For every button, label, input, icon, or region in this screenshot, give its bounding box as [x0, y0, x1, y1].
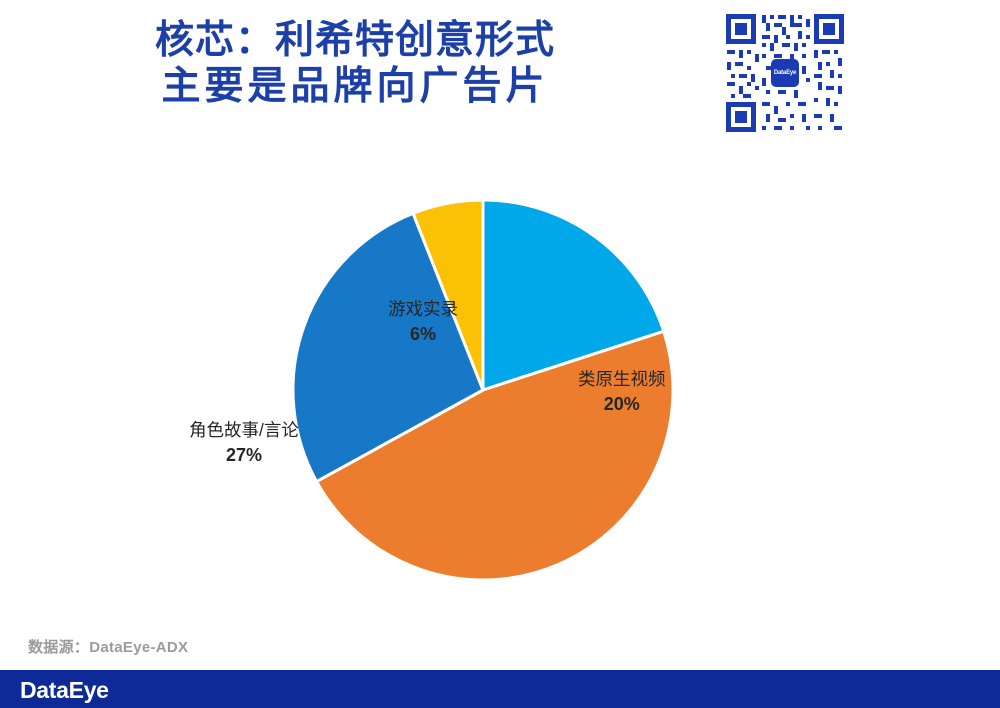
dataeye-logo: DataEye: [20, 677, 109, 704]
pie-label-role-story-name: 角色故事/言论: [185, 419, 303, 443]
page-title-line-2: 主要是品牌向广告片: [0, 64, 710, 110]
qr-code[interactable]: DataEye: [722, 10, 848, 136]
pie-label-native-video-name: 类原生视频: [578, 368, 666, 392]
page-title: 核芯：利希特创意形式 主要是品牌向广告片: [0, 18, 710, 110]
pie-label-gameplay-record-value: 6%: [388, 322, 458, 346]
qr-center-logo: DataEye: [771, 59, 799, 87]
pie-chart-svg: [0, 140, 1000, 620]
pie-chart: 类原生视频 20% 品牌向广告片 47% 角色故事/言论 27% 游戏实录 6%: [0, 140, 1000, 620]
pie-label-gameplay-record: 游戏实录 6%: [388, 298, 458, 346]
pie-label-gameplay-record-name: 游戏实录: [388, 298, 458, 322]
data-source-note: 数据源：DataEye-ADX: [28, 636, 188, 657]
footer-bar: DataEye: [0, 670, 1000, 708]
slide-canvas: 核芯：利希特创意形式 主要是品牌向广告片: [0, 0, 1000, 708]
pie-label-native-video-value: 20%: [578, 392, 666, 416]
pie-label-role-story: 角色故事/言论 27%: [185, 419, 303, 467]
pie-label-native-video: 类原生视频 20%: [578, 368, 666, 416]
page-title-line-1: 核芯：利希特创意形式: [0, 18, 710, 64]
pie-label-role-story-value: 27%: [185, 443, 303, 467]
